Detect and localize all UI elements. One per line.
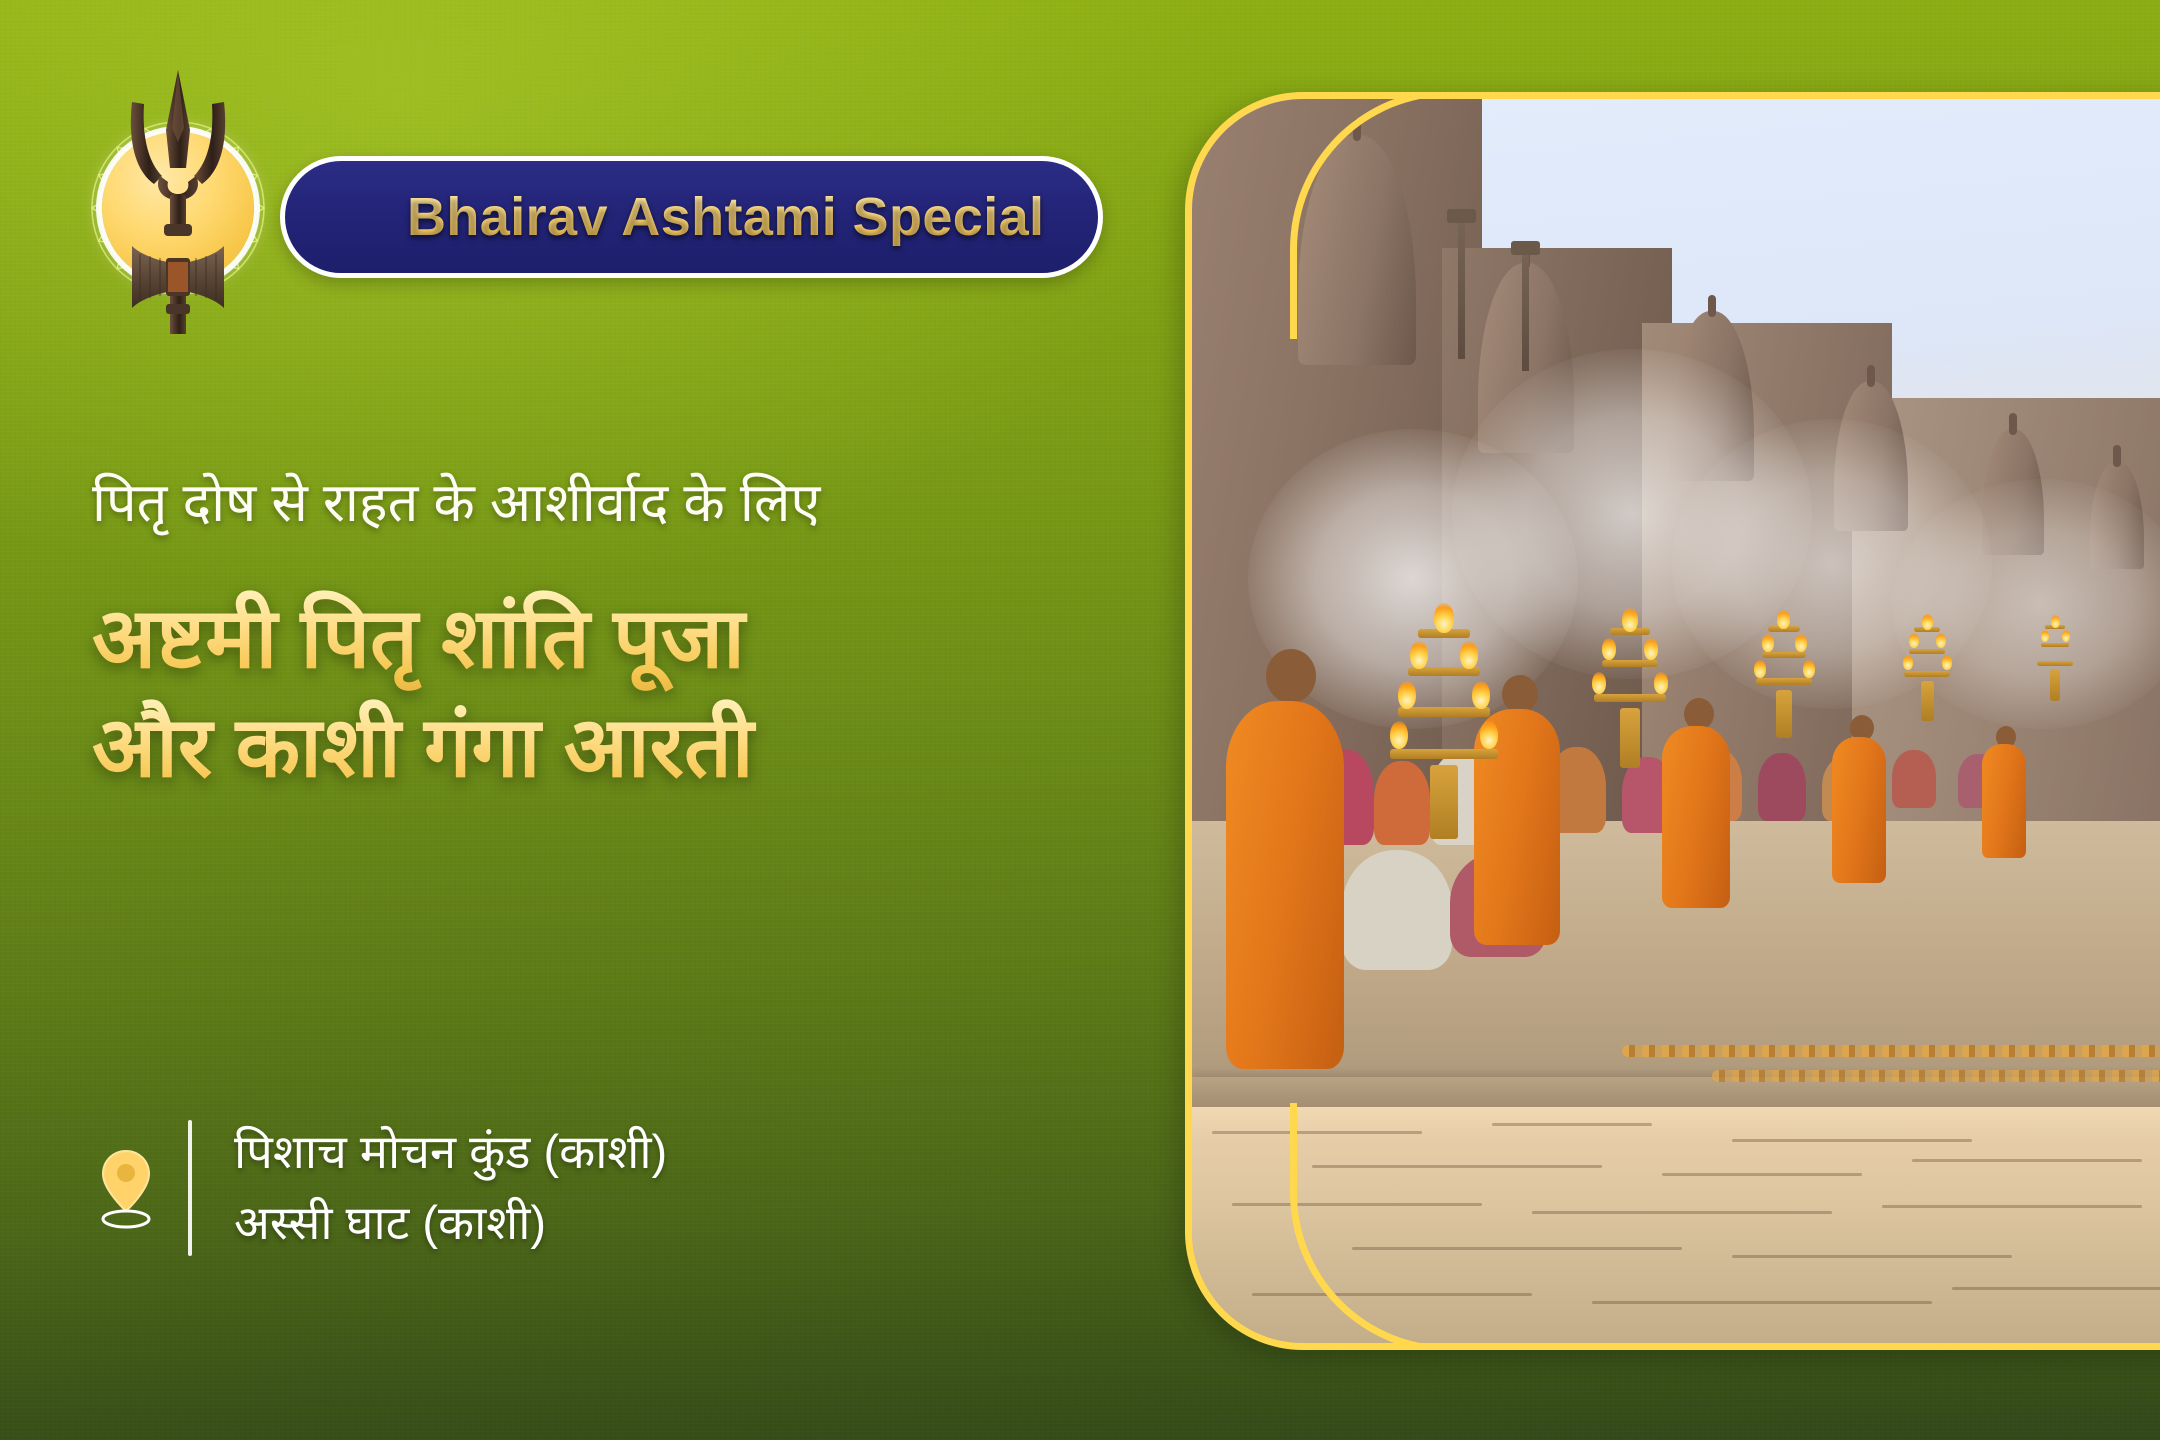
location-list: पिशाच मोचन कुंड (काशी) अस्सी घाट (काशी) — [220, 1121, 667, 1255]
headline-line-1: अष्टमी पितृ शांति पूजा — [92, 584, 1132, 693]
crowd-blob — [1758, 753, 1806, 821]
photo-scene — [1192, 99, 2160, 1343]
location-line-2: अस्सी घाट (काशी) — [234, 1192, 667, 1255]
promotional-banner: Bhairav Ashtami Special पितृ दोष से राहत… — [0, 0, 2160, 1440]
crowd-blob — [1892, 750, 1936, 808]
eyebrow-text: पितृ दोष से राहत के आशीर्वाद के लिए — [92, 470, 1132, 538]
brand-row: Bhairav Ashtami Special — [96, 78, 1136, 278]
trishul-icon — [110, 64, 246, 334]
aarti-lamp — [1384, 615, 1504, 845]
ganga-aarti-photo — [1185, 92, 2160, 1350]
priest-figure — [1832, 715, 1890, 883]
seated-figure — [1342, 850, 1452, 970]
headline: अष्टमी पितृ शांति पूजा और काशी गंगा आरती — [92, 584, 1132, 802]
light-pole-1 — [1458, 209, 1465, 359]
light-pole-2 — [1522, 241, 1529, 371]
priest-figure — [1982, 726, 2028, 858]
ganga-water — [1192, 1107, 2160, 1343]
headline-line-2: और काशी गंगा आरती — [92, 693, 1132, 802]
aarti-lamp — [1748, 616, 1820, 758]
location-line-1: पिशाच मोचन कुंड (काशी) — [234, 1121, 667, 1184]
diya-row — [1622, 1045, 2160, 1057]
logo-medallion — [96, 126, 260, 290]
aarti-lamp — [2032, 619, 2078, 709]
map-pin-icon — [92, 1145, 160, 1231]
diya-row — [1712, 1070, 2160, 1082]
aarti-lamp — [1584, 616, 1676, 796]
badge-label: Bhairav Ashtami Special — [407, 186, 1044, 248]
priest-figure — [1226, 649, 1356, 1069]
badge-bhairav-ashtami[interactable]: Bhairav Ashtami Special — [280, 156, 1103, 278]
copy-block: पितृ दोष से राहत के आशीर्वाद के लिए अष्ट… — [92, 470, 1132, 802]
location-divider — [188, 1120, 192, 1256]
location-block: पिशाच मोचन कुंड (काशी) अस्सी घाट (काशी) — [92, 1120, 667, 1256]
aarti-lamp — [1898, 619, 1956, 733]
